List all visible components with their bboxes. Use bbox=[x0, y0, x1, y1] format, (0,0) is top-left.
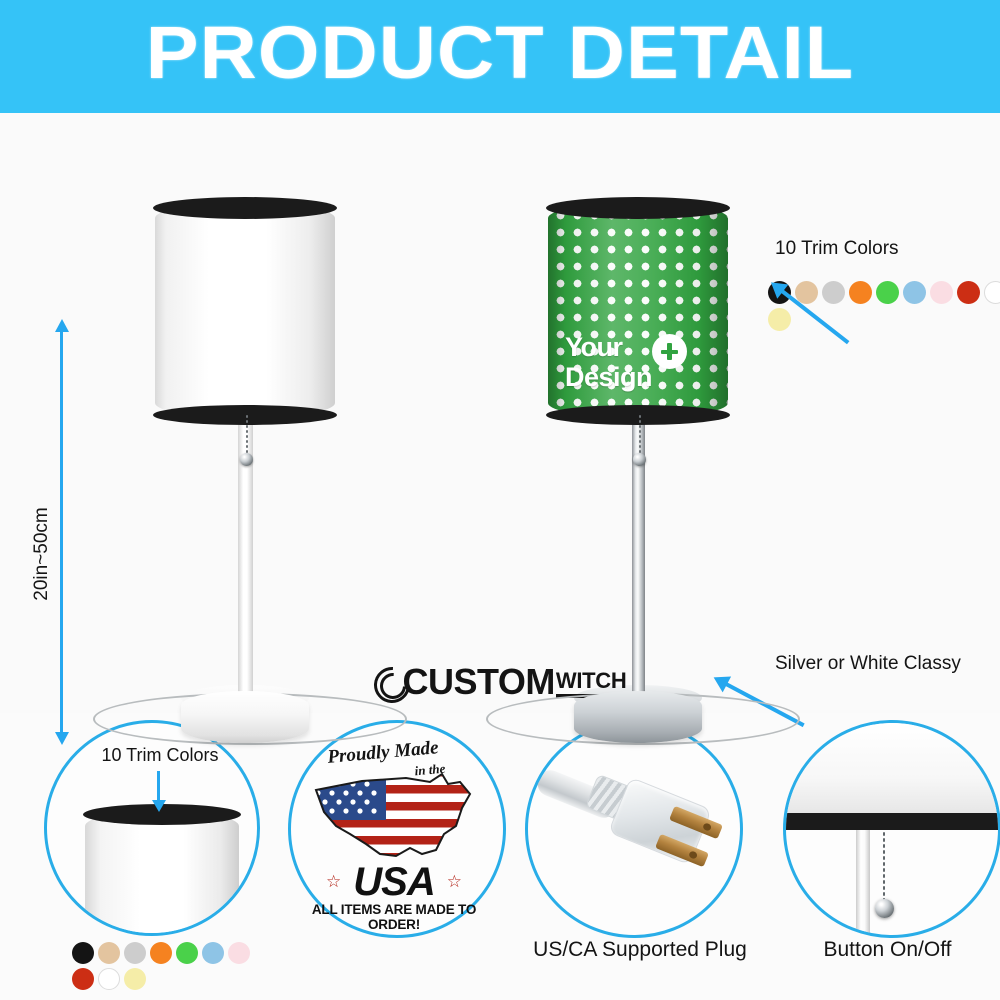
product-detail-page: PRODUCT DETAIL 7in~18cm 20in~50cm bbox=[0, 0, 1000, 1000]
trim-swatch-orange[interactable] bbox=[849, 281, 872, 304]
plug-photo bbox=[528, 723, 740, 935]
feature-trim-arrow bbox=[157, 771, 160, 801]
trim-swatch-white[interactable] bbox=[98, 968, 120, 990]
trim-swatch-orange[interactable] bbox=[150, 942, 172, 964]
lamp-showcase: 7in~18cm 20in~50cm bbox=[0, 113, 1000, 713]
trim-swatch-tan[interactable] bbox=[98, 942, 120, 964]
pull-chain-ball bbox=[633, 453, 646, 466]
header-banner: PRODUCT DETAIL bbox=[0, 0, 1000, 113]
shade-bottom-closeup bbox=[786, 723, 998, 815]
trim-swatch-red[interactable] bbox=[957, 281, 980, 304]
feature-button-label: Button On/Off bbox=[775, 938, 1000, 962]
design-text-line1: Your bbox=[548, 333, 728, 362]
page-title: PRODUCT DETAIL bbox=[0, 16, 1000, 90]
trim-swatch-light-blue[interactable] bbox=[903, 281, 926, 304]
feature-trim-title: 10 Trim Colors bbox=[47, 745, 260, 766]
pull-chain-ball bbox=[240, 453, 253, 466]
trim-swatch-white[interactable] bbox=[984, 281, 1000, 304]
feature-made-in-usa: Proudly Made in the bbox=[283, 720, 508, 1000]
usa-star-right-icon: ☆ bbox=[447, 872, 462, 892]
usa-big-text: USA bbox=[288, 860, 500, 905]
trim-swatch-gray[interactable] bbox=[822, 281, 845, 304]
height-dimension-label: 20in~50cm bbox=[31, 484, 53, 624]
lamp-pole-closeup bbox=[856, 830, 870, 935]
trim-swatch-pink[interactable] bbox=[930, 281, 953, 304]
shade-surface bbox=[155, 203, 335, 418]
shade-top-trim bbox=[153, 197, 337, 219]
design-text-line2: Design bbox=[548, 363, 728, 392]
pull-chain-closeup bbox=[882, 831, 885, 901]
lamp-shade-green: Your Design bbox=[548, 203, 728, 418]
usa-star-left-icon: ☆ bbox=[326, 872, 341, 892]
feature-circle: 10 Trim Colors bbox=[44, 720, 260, 936]
feature-circle bbox=[525, 720, 743, 938]
pull-chain-ball-closeup bbox=[875, 899, 894, 918]
usa-subtext: ALL ITEMS ARE MADE TO ORDER! bbox=[288, 902, 500, 932]
plus-icon bbox=[652, 334, 687, 369]
trim-swatch-gray[interactable] bbox=[124, 942, 146, 964]
trim-swatch-green[interactable] bbox=[176, 942, 198, 964]
trim-color-swatch-row-bottom bbox=[72, 942, 272, 990]
logo-primary-text: CUSTOM bbox=[403, 661, 555, 702]
shade-closeup bbox=[85, 811, 239, 936]
trim-swatch-red[interactable] bbox=[72, 968, 94, 990]
pull-chain bbox=[638, 414, 641, 456]
trim-colors-callout: 10 Trim Colors bbox=[775, 238, 899, 260]
feature-row: 10 Trim Colors Proudly Made in the bbox=[0, 712, 1000, 1000]
trim-swatch-black[interactable] bbox=[72, 942, 94, 964]
lamp-shade-white bbox=[155, 203, 335, 418]
trim-colors-title: 10 Trim Colors bbox=[775, 238, 899, 260]
trim-swatch-light-blue[interactable] bbox=[202, 942, 224, 964]
feature-trim-colors: 10 Trim Colors bbox=[36, 720, 264, 1000]
usa-badge: Proudly Made in the bbox=[288, 720, 500, 932]
shade-top-trim bbox=[546, 197, 730, 219]
feature-button-on-off: Button On/Off bbox=[775, 720, 1000, 1000]
feature-plug: US/CA Supported Plug bbox=[505, 720, 775, 1000]
shade-trim-closeup bbox=[786, 813, 998, 830]
trim-swatch-yellow[interactable] bbox=[768, 308, 791, 331]
trim-swatch-green[interactable] bbox=[876, 281, 899, 304]
usa-map-icon bbox=[310, 768, 478, 868]
logo-c-icon bbox=[374, 667, 408, 701]
trim-swatch-yellow[interactable] bbox=[124, 968, 146, 990]
feature-plug-label: US/CA Supported Plug bbox=[505, 938, 775, 962]
trim-swatch-pink[interactable] bbox=[228, 942, 250, 964]
pull-chain bbox=[245, 414, 248, 456]
lamp-base bbox=[574, 691, 702, 743]
feature-circle bbox=[783, 720, 1000, 938]
lamp-base bbox=[181, 691, 309, 743]
